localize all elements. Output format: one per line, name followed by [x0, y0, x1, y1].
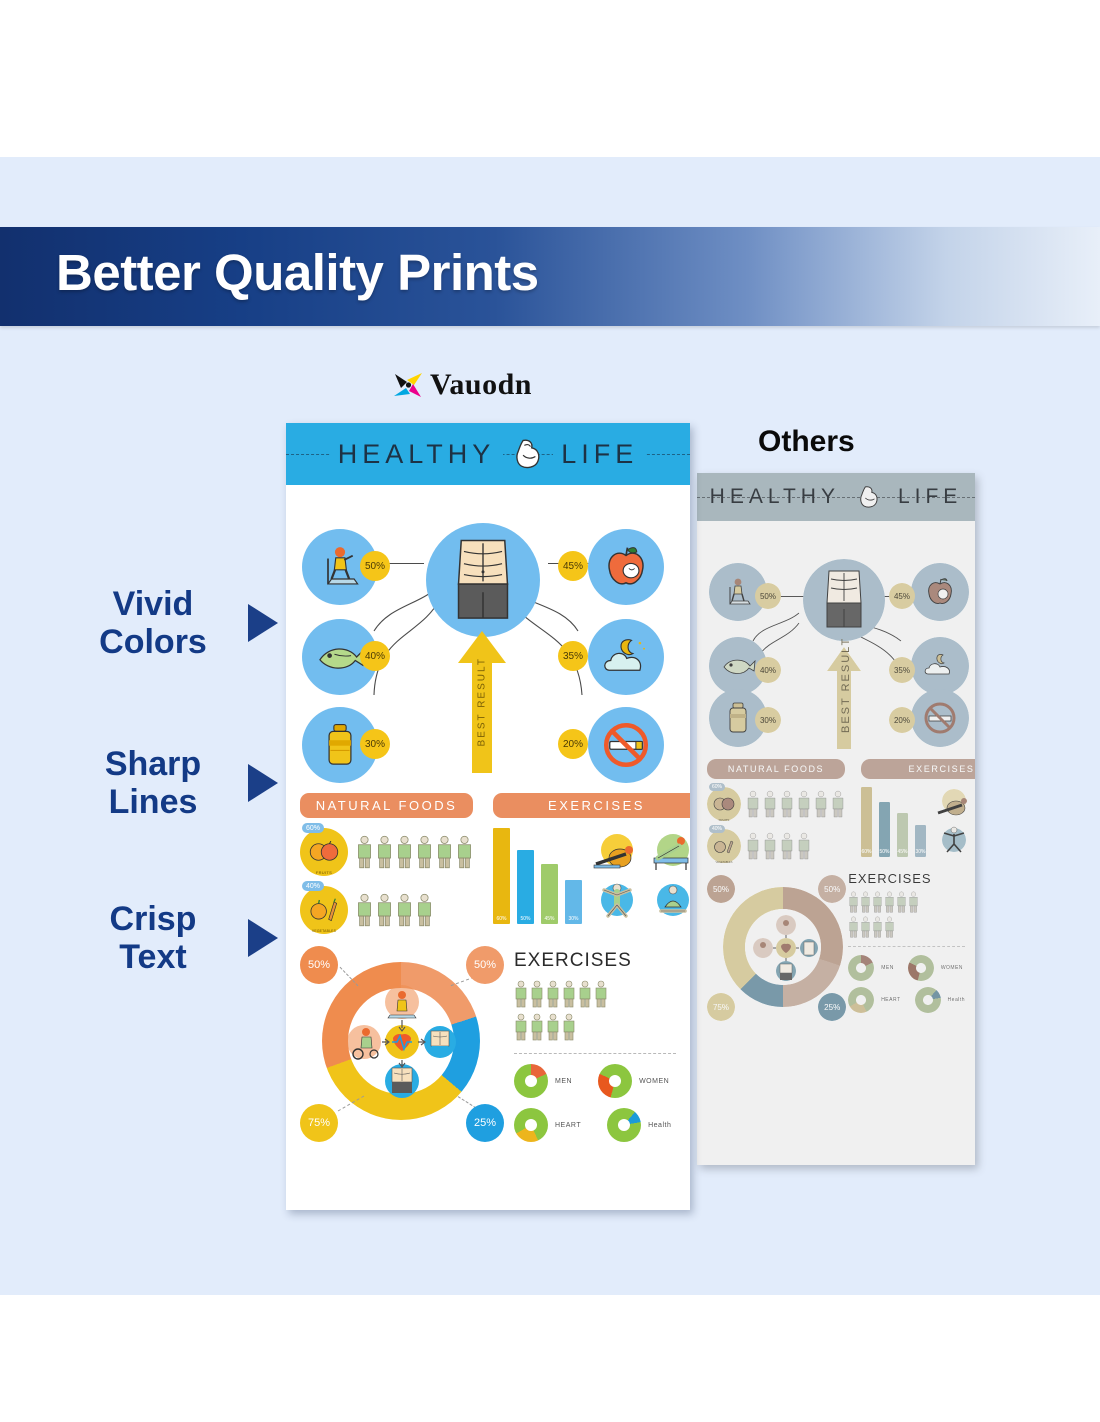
no-smoking-icon: [602, 721, 650, 769]
mini-donut-label: WOMEN: [941, 965, 963, 971]
brand-logo: Vauodn: [392, 368, 532, 402]
vegetables-row: 40% VEGETABLES: [707, 829, 845, 863]
donut-center-icons: [344, 982, 460, 1100]
fruits-label: FRUITS: [300, 870, 348, 875]
exercises-bar-chart: 60% 50% 45% 30%: [493, 828, 582, 924]
moon-cloud-sleep-icon: [922, 652, 958, 680]
mid-section: NATURAL FOODS 60% FRUITS: [697, 753, 975, 863]
feature-callout-vivid-colors: Vivid Colors: [68, 585, 278, 662]
poster-title-right: LIFE: [553, 439, 646, 470]
feature-callout-sharp-lines: Sharp Lines: [68, 745, 278, 822]
donut-label-top-left: 50%: [707, 875, 735, 903]
flexed-bicep-icon: [858, 485, 880, 509]
feature-label: Sharp Lines: [68, 745, 238, 822]
vegetables-icon: 40% VEGETABLES: [300, 886, 348, 934]
natural-foods-heading: NATURAL FOODS: [300, 793, 473, 818]
feature-line-1: Crisp: [68, 900, 238, 938]
natural-foods-panel: NATURAL FOODS 60% FRUITS: [707, 759, 853, 863]
moon-cloud-sleep-icon: [601, 637, 651, 677]
exercises-pictogram-row-1: [514, 980, 676, 1008]
bar-label: 30%: [915, 849, 926, 855]
apple-fruit-icon: [924, 576, 956, 608]
mini-donut-health: Health: [915, 987, 965, 1013]
page-title: Better Quality Prints: [56, 243, 539, 302]
result-donut-chart: 50% 50% 75% 25%: [300, 946, 504, 1142]
hub-center-node: [803, 559, 885, 641]
yoga-sit-icon: [646, 878, 690, 924]
mini-donut-heart: HEART: [848, 987, 900, 1013]
hub-percent-water: 30%: [755, 707, 781, 733]
fish-icon: [315, 639, 365, 675]
mini-donut-health: Health: [607, 1108, 671, 1142]
donut-label-top-left: 50%: [300, 946, 338, 984]
mini-donut-label: MEN: [881, 965, 894, 971]
feature-callout-crisp-text: Crisp Text: [68, 900, 278, 977]
mini-donut-row-1: MEN WOMEN: [848, 955, 965, 981]
vegetables-pictogram: [356, 893, 433, 927]
poster-title-left: HEALTHY: [330, 439, 504, 470]
result-donut-chart: 50% 50% 75% 25%: [707, 871, 840, 1023]
mini-donut-women: WOMEN: [598, 1064, 669, 1098]
mini-donut-heart: HEART: [514, 1108, 581, 1142]
hub-percent-sleep: 35%: [889, 657, 915, 683]
hub-percent-no-smoking: 20%: [889, 707, 915, 733]
flexed-bicep-icon: [513, 438, 543, 470]
mini-donut-ring: [514, 1108, 548, 1142]
donut-label-bottom-right: 25%: [466, 1104, 504, 1142]
mini-donut-row-2: HEART Health: [514, 1108, 676, 1142]
exercises-pictogram-row-2: [848, 916, 965, 938]
muscular-torso-icon: [819, 569, 869, 631]
hub-node-no-smoking: [911, 689, 969, 747]
treadmill-runner-icon: [316, 543, 364, 591]
donut-label-top-right: 50%: [818, 875, 846, 903]
exercises-pictogram-row-2: [514, 1013, 676, 1041]
hub-diagram: 50% 40% 30%: [286, 485, 690, 787]
mini-donut-men: MEN: [848, 955, 894, 981]
hub-node-sleep[interactable]: [588, 619, 664, 695]
donut-center-icons: [751, 913, 821, 983]
hub-percent-apple: 45%: [558, 551, 588, 581]
mini-donut-row-2: HEART Health: [848, 987, 965, 1013]
hub-percent-apple: 45%: [889, 583, 915, 609]
bottom-section: 50% 50% 75% 25% EXERCISES: [286, 934, 690, 1152]
others-poster: HEALTHY LIFE: [697, 473, 975, 1165]
bottom-section: 50% 50% 75% 25% EXERCISES: [697, 863, 975, 1031]
hub-percent-treadmill: 50%: [755, 583, 781, 609]
bar-label: 30%: [565, 916, 582, 922]
exercises-bottom-heading: EXERCISES: [848, 871, 965, 886]
mid-section: NATURAL FOODS 60% FRUITS: [286, 787, 690, 934]
mini-donut-label: MEN: [555, 1078, 572, 1085]
feature-line-1: Vivid: [68, 585, 238, 623]
fruits-pictogram: [746, 790, 845, 818]
cmyk-pinwheel-icon: [392, 369, 426, 401]
hub-node-apple[interactable]: [588, 529, 664, 605]
apple-fruit-icon: [603, 544, 649, 590]
feature-line-1: Sharp: [68, 745, 238, 783]
natural-foods-heading: NATURAL FOODS: [707, 759, 845, 779]
hub-node-no-smoking[interactable]: [588, 707, 664, 783]
hub-percent-fish: 40%: [360, 641, 390, 671]
treadmill-runner-icon: [721, 575, 755, 609]
vegetables-label: VEGETABLES: [707, 861, 741, 864]
no-smoking-icon: [923, 701, 957, 735]
fruits-percent: 60%: [709, 783, 725, 791]
vegetables-label: VEGETABLES: [300, 929, 348, 933]
best-result-label: BEST RESULT: [477, 659, 488, 747]
mini-donut-label: WOMEN: [639, 1078, 669, 1085]
fruits-row: 60% FRUITS: [707, 787, 845, 821]
hub-percent-treadmill: 50%: [360, 551, 390, 581]
mini-donut-women: WOMEN: [908, 955, 963, 981]
hub-node-sleep: [911, 637, 969, 695]
feature-line-2: Colors: [68, 623, 238, 661]
mini-donut-label: Health: [948, 997, 965, 1003]
mini-donut-ring: [607, 1108, 641, 1142]
hub-percent-no-smoking: 20%: [558, 729, 588, 759]
fruits-row: 60% FRUITS: [300, 828, 473, 876]
bar-label: 50%: [517, 916, 534, 922]
leg-press-bench-icon: [646, 830, 690, 876]
poster-header-bar: HEALTHY LIFE: [697, 473, 975, 521]
poster-body: 50% 40% 30%: [697, 521, 975, 1031]
poster-header-bar: HEALTHY LIFE: [286, 423, 690, 485]
play-triangle-right-icon: [248, 764, 278, 802]
vegetables-percent: 40%: [302, 881, 324, 891]
feature-line-2: Lines: [68, 783, 238, 821]
exercises-top-panel: EXERCISES 60% 50% 45% 30%: [483, 793, 690, 934]
exercises-top-panel: EXERCISES 60% 50% 45% 30%: [853, 759, 975, 863]
water-bottle-icon: [727, 702, 749, 734]
exercises-bottom-panel: EXERCISES: [504, 946, 676, 1142]
mini-donut-ring: [598, 1064, 632, 1098]
feature-line-2: Text: [68, 938, 238, 976]
donut-label-bottom-left: 75%: [300, 1104, 338, 1142]
fruits-icon: 60% FRUITS: [707, 787, 741, 821]
exercises-heading: EXERCISES: [493, 793, 690, 818]
fruits-percent: 60%: [302, 823, 324, 833]
plank-ball-icon: [590, 830, 644, 876]
exercises-heading: EXERCISES: [861, 759, 975, 779]
mini-donut-row-1: MEN WOMEN: [514, 1064, 676, 1098]
mini-donut-label: HEART: [881, 997, 900, 1003]
bar-label: 45%: [541, 916, 558, 922]
poster-title-right: LIFE: [890, 485, 970, 509]
hub-node-apple: [911, 563, 969, 621]
donut-label-top-right: 50%: [466, 946, 504, 984]
donut-label-bottom-left: 75%: [707, 993, 735, 1021]
exercises-pictogram-row-1: [848, 891, 965, 913]
plank-ball-icon: [932, 787, 975, 821]
bar-label: 60%: [861, 849, 872, 855]
exercises-bottom-panel: EXERCISES: [840, 871, 965, 1023]
muscular-torso-icon: [449, 537, 517, 623]
exercises-bottom-heading: EXERCISES: [514, 950, 676, 972]
poster-title-left: HEALTHY: [702, 485, 848, 509]
vegetables-percent: 40%: [709, 825, 725, 833]
hub-percent-water: 30%: [360, 729, 390, 759]
hub-percent-fish: 40%: [755, 657, 781, 683]
fish-icon: [720, 653, 756, 679]
hub-center-node[interactable]: [426, 523, 540, 637]
bar-label: 60%: [493, 916, 510, 922]
vegetables-row: 40% VEGETABLES: [300, 886, 473, 934]
bar-label: 45%: [897, 849, 908, 855]
hub-diagram: 50% 40% 30%: [697, 521, 975, 753]
feature-label: Crisp Text: [68, 900, 238, 977]
play-triangle-right-icon: [248, 604, 278, 642]
jumping-jack-icon: [932, 823, 975, 857]
mini-donut-label: Health: [648, 1122, 671, 1129]
play-triangle-right-icon: [248, 919, 278, 957]
mini-donut-ring: [514, 1064, 548, 1098]
fruits-pictogram: [356, 835, 473, 869]
vegetables-icon: 40% VEGETABLES: [707, 829, 741, 863]
brand-name: Vauodn: [430, 368, 532, 402]
water-bottle-icon: [325, 722, 355, 768]
exercises-bar-chart: 60% 50% 45% 30%: [861, 787, 926, 857]
natural-foods-panel: NATURAL FOODS 60% FRUITS: [300, 793, 483, 934]
best-result-label: BEST RESULT: [840, 661, 852, 733]
others-poster-label: Others: [758, 425, 855, 459]
donut-label-bottom-right: 25%: [818, 993, 846, 1021]
poster-body: 50% 40% 30%: [286, 485, 690, 1152]
hub-percent-sleep: 35%: [558, 641, 588, 671]
fruits-icon: 60% FRUITS: [300, 828, 348, 876]
mini-donut-label: HEART: [555, 1122, 581, 1129]
main-poster: HEALTHY LIFE: [286, 423, 690, 1210]
fruits-label: FRUITS: [707, 818, 741, 822]
bar-label: 50%: [879, 849, 890, 855]
jumping-jack-icon: [590, 878, 644, 924]
vegetables-pictogram: [746, 832, 811, 860]
mini-donut-men: MEN: [514, 1064, 572, 1098]
feature-label: Vivid Colors: [68, 585, 238, 662]
